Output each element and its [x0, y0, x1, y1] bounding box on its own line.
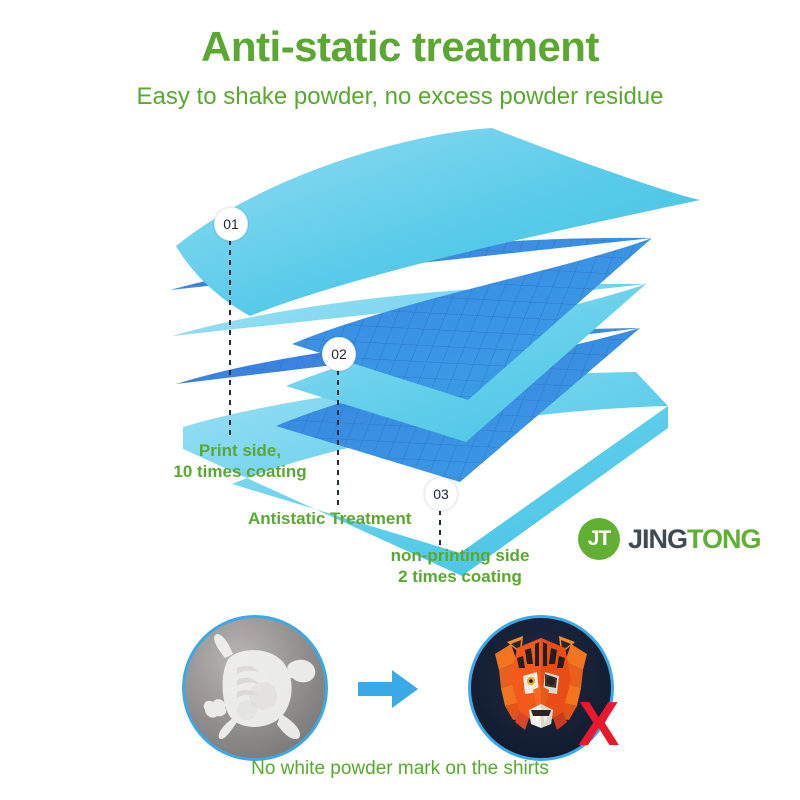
logo-wordmark-part2: TONG: [687, 524, 761, 554]
page-title: Anti-static treatment: [0, 26, 800, 68]
callout-badge-01[interactable]: 01: [214, 207, 248, 241]
header: Anti-static treatment Easy to shake powd…: [0, 0, 800, 109]
logo-mark-icon: JT: [578, 518, 620, 560]
comparison-caption: No white powder mark on the shirts: [0, 758, 800, 780]
callout-label-02: Antistatic Treatment: [248, 508, 468, 529]
reject-x-mark: X: [578, 694, 619, 756]
callout-label-03: non-printing side 2 times coating: [360, 545, 560, 588]
arrow-right-icon: [358, 668, 420, 715]
koi-fish-icon: [185, 618, 325, 758]
callout-badge-03[interactable]: 03: [424, 477, 458, 511]
before-photo[interactable]: [182, 615, 328, 761]
callout-badge-02[interactable]: 02: [322, 337, 356, 371]
page-subtitle: Easy to shake powder, no excess powder r…: [0, 85, 800, 109]
brand-logo[interactable]: JT JINGTONG: [578, 518, 761, 560]
logo-wordmark-part1: JING: [628, 524, 687, 554]
infographic-page: Anti-static treatment Easy to shake powd…: [0, 0, 800, 800]
logo-wordmark: JINGTONG: [628, 524, 761, 555]
callout-label-01: Print side, 10 times coating: [150, 440, 330, 483]
